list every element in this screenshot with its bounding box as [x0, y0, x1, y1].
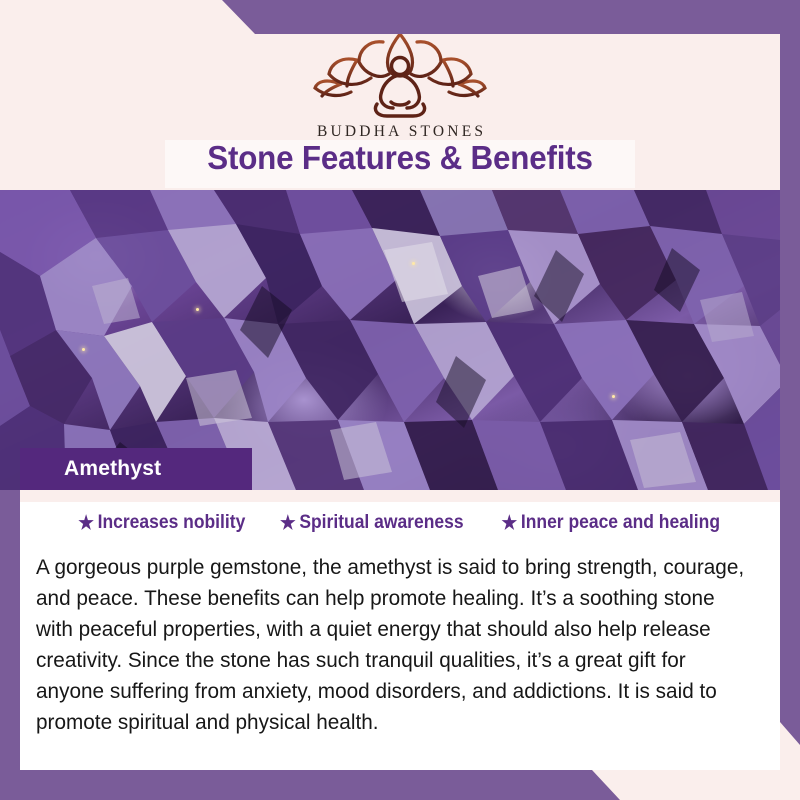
benefit-item-3: ★ Inner peace and healing	[501, 512, 720, 534]
star-icon: ★	[501, 514, 517, 533]
frame-right-accent	[780, 0, 800, 800]
brand-logo: BUDDHA STONES	[0, 26, 800, 141]
sparkle-highlight	[196, 308, 199, 311]
stone-description: A gorgeous purple gemstone, the amethyst…	[36, 552, 754, 738]
benefit-label: Inner peace and healing	[521, 512, 720, 534]
body-top-spacer	[20, 490, 780, 502]
benefit-item-2: ★ Spiritual awareness	[280, 512, 464, 534]
sparkle-highlight	[612, 395, 615, 398]
crystal-facets	[0, 190, 800, 490]
benefits-list: ★ Increases nobility ★ Spiritual awarene…	[20, 512, 780, 534]
benefit-label: Spiritual awareness	[300, 512, 464, 534]
star-icon: ★	[280, 514, 296, 533]
stone-feature-card: BUDDHA STONES Stone Features & Benefits	[0, 0, 800, 800]
sparkle-highlight	[82, 348, 85, 351]
benefit-label: Increases nobility	[97, 512, 245, 534]
stone-name-label: Amethyst	[64, 457, 161, 481]
lotus-meditating-figure-icon	[295, 26, 505, 121]
stone-name-badge: Amethyst	[20, 448, 252, 490]
frame-bottom-accent	[0, 770, 800, 800]
page-title: Stone Features & Benefits	[20, 139, 780, 177]
benefit-item-1: ★ Increases nobility	[78, 512, 245, 534]
card-body: ★ Increases nobility ★ Spiritual awarene…	[20, 490, 780, 770]
sparkle-highlight	[412, 262, 415, 265]
star-icon: ★	[78, 514, 94, 533]
amethyst-crystal-cluster-photo: Amethyst	[0, 190, 800, 490]
